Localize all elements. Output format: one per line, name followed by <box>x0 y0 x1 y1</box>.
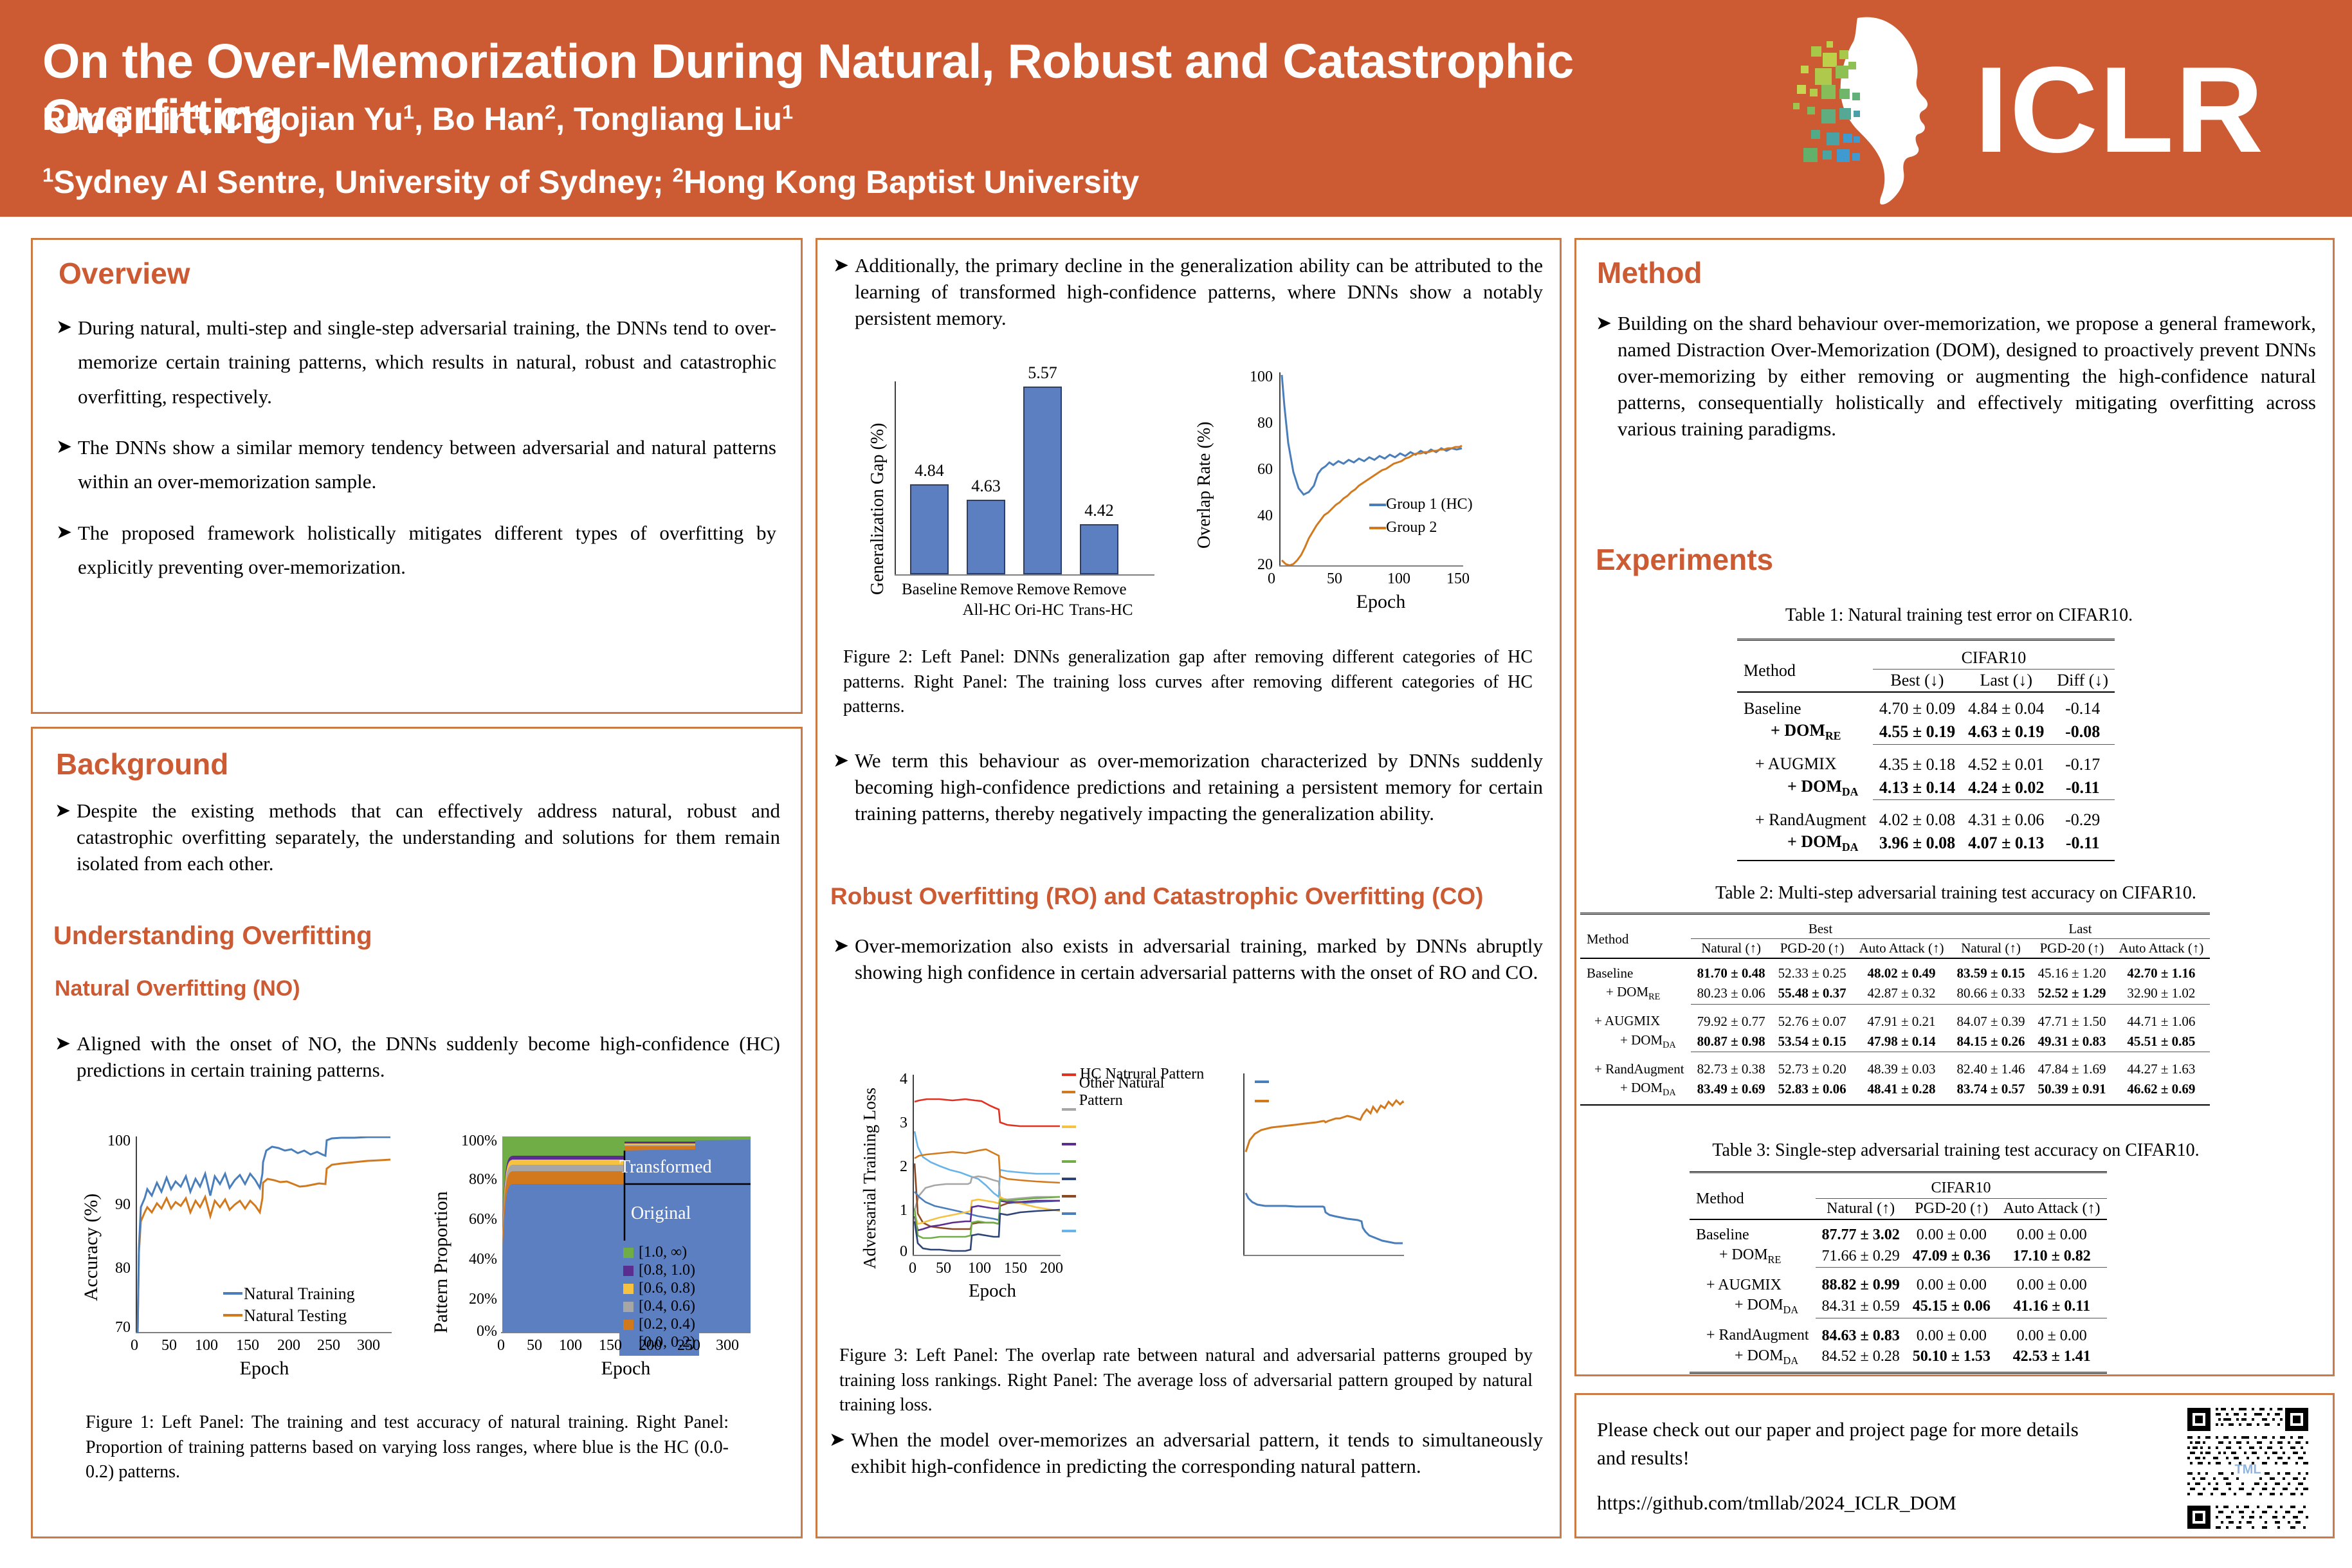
fig1-right-xlabel: Epoch <box>542 1358 709 1380</box>
fig1-left-plot <box>136 1136 392 1333</box>
overview-panel: Overview ➤ During natural, multi-step an… <box>31 238 803 714</box>
fig1-right-ytick-100: 100% <box>435 1133 497 1150</box>
legend-line-icon <box>1255 1100 1269 1102</box>
fig1-right-xtick-300: 300 <box>716 1337 739 1354</box>
fig1-right-ytick-20: 20% <box>435 1291 497 1308</box>
fig2-left-bar-3 <box>1023 387 1062 574</box>
fig1-left-xtick-200: 200 <box>277 1337 300 1354</box>
legend-item: [0.4, 0.6) <box>623 1298 695 1315</box>
figure2-caption: Figure 2: Left Panel: DNNs generalizatio… <box>843 645 1533 720</box>
fig3-right-legend <box>1255 1072 1273 1111</box>
arrow-bullet-icon: ➤ <box>56 311 78 414</box>
table2-grid: Method Best Last Natural (↑) PGD-20 (↑) … <box>1580 913 2210 1106</box>
fig2-left-cat-3-line2: Ori-HC <box>1007 601 1072 619</box>
legend-item <box>1062 1153 1205 1170</box>
arrow-bullet-icon: ➤ <box>55 1031 77 1084</box>
fig1-right-xtick-100: 100 <box>559 1337 582 1354</box>
overview-bullet-2: ➤ The DNNs show a similar memory tendenc… <box>56 430 776 499</box>
table-row: + RandAugment 82.73 ± 0.38 52.73 ± 0.20 … <box>1580 1052 2210 1079</box>
table-header-row: Method CIFAR10 <box>1690 1172 2107 1199</box>
iclr-wordmark: ICLR <box>1974 40 2265 180</box>
legend-item: [1.0, ∞) <box>623 1244 695 1261</box>
fig2-left-yaxis <box>895 381 896 574</box>
legend-item <box>1062 1170 1205 1187</box>
figure3-caption: Figure 3: Left Panel: The overlap rate b… <box>839 1344 1533 1418</box>
arrow-bullet-icon: ➤ <box>833 253 855 332</box>
fig1-left-xtick-50: 50 <box>161 1337 177 1354</box>
fig1-right-xtick-250: 250 <box>677 1337 700 1354</box>
fig1-right-ytick-40: 40% <box>435 1251 497 1268</box>
legend-swatch-icon <box>623 1302 634 1312</box>
figure3-left-chart: Adversarial Training Loss 4 3 2 1 0 <box>857 1057 1205 1327</box>
fig2-right-ytick-003: 40 <box>1205 507 1273 525</box>
fig3-left-ytick-20: 0 <box>871 1243 907 1261</box>
legend-item: [0.8, 1.0) <box>623 1262 695 1279</box>
table-row: + DOMDA 84.31 ± 0.59 45.15 ± 0.06 41.16 … <box>1690 1295 2107 1318</box>
poster-header: On the Over-Memorization During Natural,… <box>0 0 2352 217</box>
fig1-left-xtick-0: 0 <box>131 1337 138 1354</box>
legend-line-icon <box>1062 1108 1076 1111</box>
row-method: + AUGMIX <box>1690 1268 1816 1296</box>
table1-caption: Table 1: Natural training test error on … <box>1654 605 2265 626</box>
row-method: + DOMDA <box>1690 1346 1816 1373</box>
legend-swatch-icon <box>623 1248 634 1258</box>
method-bullet-1: ➤ Building on the shard behaviour over-m… <box>1596 311 2316 442</box>
fig2-right-legend-label-1: Group 1 (HC) <box>1386 496 1473 513</box>
row-method: + DOMRE <box>1690 1245 1816 1268</box>
legend-item <box>1255 1091 1273 1111</box>
legend-item: [0.6, 0.8) <box>623 1280 695 1297</box>
table-row: + AUGMIX 79.92 ± 0.77 52.76 ± 0.07 47.91… <box>1580 1004 2210 1031</box>
fig3-left-plot <box>914 1075 1061 1255</box>
table1-grid: Method CIFAR10 Best (↓) Last (↓) Diff (↓… <box>1737 639 2115 861</box>
head-silhouette-icon <box>1782 13 1974 206</box>
fig1-left-xtick-150: 150 <box>236 1337 259 1354</box>
fig2-right-xaxis <box>1279 565 1463 567</box>
table-row: + AUGMIX 4.35 ± 0.18 4.52 ± 0.01 -0.17 <box>1737 744 2115 776</box>
natural-overfitting-subheading: Natural Overfitting (NO) <box>55 976 300 1001</box>
fig2-right-legend-swatch-2 <box>1369 527 1386 529</box>
fig3-left-ytick-80: 3 <box>871 1115 907 1132</box>
row-method: + DOMDA <box>1690 1295 1816 1318</box>
row-method: + RandAugment <box>1737 800 1873 832</box>
table-row: + AUGMIX 88.82 ± 0.99 0.00 ± 0.00 0.00 ±… <box>1690 1268 2107 1296</box>
fig1-right-annotation-transformed: Transformed <box>619 1157 712 1178</box>
row-method: + DOMDA <box>1580 1031 1691 1052</box>
fig3-left-xaxis <box>913 1255 1061 1256</box>
fig2-right-plot <box>1281 372 1463 565</box>
background-understanding-panel: Background ➤ Despite the existing method… <box>31 727 803 1538</box>
table-row: Baseline 4.70 ± 0.09 4.84 ± 0.04 -0.14 <box>1737 692 2115 720</box>
figure1-caption: Figure 1: Left Panel: The training and t… <box>86 1410 729 1485</box>
row-method: + AUGMIX <box>1580 1004 1691 1031</box>
table3-caption: Table 3: Single-step adversarial trainin… <box>1615 1140 2297 1161</box>
fig1-right-ytick-80: 80% <box>435 1171 497 1189</box>
fig3-left-xtick-0: 0 <box>909 1260 916 1277</box>
middle-bullet-bottom-1: ➤ When the model over-memorizes an adver… <box>829 1427 1543 1480</box>
legend-line-icon <box>1062 1091 1075 1093</box>
method-heading: Method <box>1597 255 1702 290</box>
fig2-left-bar-2 <box>967 500 1005 574</box>
legend-line-icon <box>1062 1212 1076 1215</box>
fig1-left-legend-swatch-2 <box>223 1314 242 1317</box>
fig2-right-ytick-005: 60 <box>1205 461 1273 479</box>
figure1-right-chart: Pattern Proportion 100% 80% 60% 40% 20% … <box>426 1127 774 1378</box>
legend-line-icon <box>1062 1143 1076 1145</box>
svg-text:TML: TML <box>2234 1463 2261 1477</box>
fig1-right-annotation-original: Original <box>631 1203 691 1224</box>
fig2-right-xtick-150: 0 <box>1268 570 1275 588</box>
fig1-left-xlabel: Epoch <box>181 1358 348 1380</box>
figure3-right-chart <box>1201 1057 1529 1327</box>
overview-heading: Overview <box>59 256 190 291</box>
poster-root: On the Over-Memorization During Natural,… <box>0 0 2352 1568</box>
row-method: + RandAugment <box>1580 1052 1691 1079</box>
row-method: Baseline <box>1690 1219 1816 1245</box>
fig2-right-legend-swatch-1 <box>1369 504 1386 506</box>
table3: Method CIFAR10 Natural (↑) PGD-20 (↑) Au… <box>1690 1171 2107 1374</box>
table-row: + DOMRE 4.55 ± 0.19 4.63 ± 0.19 -0.08 <box>1737 720 2115 744</box>
row-method: + DOMDA <box>1737 776 1873 800</box>
overview-bullet-3: ➤ The proposed framework holistically mi… <box>56 516 776 585</box>
legend-swatch-icon <box>623 1338 634 1348</box>
table-header-row: Method Best Last <box>1580 914 2210 939</box>
fig2-left-bar-1 <box>910 484 949 574</box>
legend-item <box>1062 1135 1205 1153</box>
footer-text: Please check out our paper and project p… <box>1597 1416 2111 1472</box>
method-experiments-panel: Method ➤ Building on the shard behaviour… <box>1574 238 2335 1376</box>
fig1-right-ytick-0: 0% <box>435 1323 497 1340</box>
table-row: Baseline 87.77 ± 3.02 0.00 ± 0.00 0.00 ±… <box>1690 1219 2107 1245</box>
fig2-right-xtick-200: 50 <box>1327 570 1342 588</box>
legend-line-icon <box>1062 1230 1076 1232</box>
fig3-left-xlabel: Epoch <box>928 1281 1057 1302</box>
legend-item <box>1062 1118 1205 1135</box>
table-bottom-rule <box>1690 1373 2107 1374</box>
arrow-bullet-icon: ➤ <box>56 430 78 499</box>
fig1-left-xtick-300: 300 <box>357 1337 380 1354</box>
fig3-left-ytick-40: 1 <box>871 1202 907 1219</box>
legend-line-icon <box>1062 1126 1076 1128</box>
table-row: + DOMDA 84.52 ± 0.28 50.10 ± 1.53 42.53 … <box>1690 1346 2107 1373</box>
table-row: + DOMRE 80.23 ± 0.06 55.48 ± 0.37 42.87 … <box>1580 983 2210 1004</box>
table1: Method CIFAR10 Best (↓) Last (↓) Diff (↓… <box>1737 639 2115 861</box>
legend-item <box>1255 1072 1273 1091</box>
middle-column-panel: ➤ Additionally, the primary decline in t… <box>816 238 1562 1538</box>
table-row: + RandAugment 84.63 ± 0.83 0.00 ± 0.00 0… <box>1690 1318 2107 1346</box>
table3-grid: Method CIFAR10 Natural (↑) PGD-20 (↑) Au… <box>1690 1171 2107 1374</box>
author-list: Runqi Lin1, Chaojian Yu1, Bo Han2, Tongl… <box>42 100 1715 138</box>
fig2-left-ylabel: Generalization Gap (%) <box>868 423 888 595</box>
arrow-bullet-icon: ➤ <box>56 516 78 585</box>
fig2-left-bar-value-1: 4.84 <box>902 461 956 480</box>
legend-swatch-icon <box>623 1266 634 1276</box>
fig2-left-bar-value-3: 5.57 <box>1016 363 1070 383</box>
row-method: + DOMRE <box>1580 983 1691 1004</box>
background-heading: Background <box>56 747 228 781</box>
ro-co-heading: Robust Overfitting (RO) and Catastrophic… <box>830 883 1483 910</box>
table-row: + DOMDA 4.13 ± 0.14 4.24 ± 0.02 -0.11 <box>1737 776 2115 800</box>
fig2-right-ytick-001: 20 <box>1205 556 1273 574</box>
legend-line-icon <box>1062 1160 1076 1163</box>
row-method: + RandAugment <box>1690 1318 1816 1346</box>
table-bottom-rule <box>1580 1105 2210 1106</box>
figure2-left-chart: Generalization Gap (%) 4.84 4.63 5.57 4.… <box>864 356 1185 626</box>
fig1-left-legend-label-1: Natural Training <box>244 1284 355 1304</box>
experiments-heading: Experiments <box>1596 542 1773 577</box>
legend-item <box>1062 1205 1205 1222</box>
table-row: Baseline 81.70 ± 0.48 52.33 ± 0.25 48.02… <box>1580 958 2210 983</box>
fig1-left-ytick-70: 70 <box>80 1319 131 1336</box>
row-method: + DOMRE <box>1737 720 1873 744</box>
row-method: + DOMDA <box>1737 831 1873 860</box>
table-header-row: Method CIFAR10 <box>1737 640 2115 670</box>
row-method: Baseline <box>1737 692 1873 720</box>
row-method: + AUGMIX <box>1737 744 1873 776</box>
legend-swatch-icon <box>623 1320 634 1330</box>
fig2-right-xlabel: Epoch <box>1317 591 1445 613</box>
fig3-left-xtick-50: 50 <box>936 1260 951 1277</box>
middle-bullet-roco-1: ➤ Over-memorization also exists in adver… <box>833 933 1543 986</box>
fig2-left-cat-4-line2: Trans-HC <box>1063 601 1139 619</box>
legend-line-icon <box>1062 1195 1076 1198</box>
project-url-link[interactable]: https://github.com/tmllab/2024_ICLR_DOM <box>1597 1491 2150 1515</box>
fig1-right-xtick-150: 150 <box>599 1337 622 1354</box>
fig3-left-ytick-60: 2 <box>871 1158 907 1176</box>
iclr-logo: ICLR <box>1782 13 2335 206</box>
fig2-left-bar-4 <box>1080 524 1118 574</box>
fig2-right-ytick-007: 80 <box>1205 415 1273 432</box>
fig3-left-ytick-100: 4 <box>871 1071 907 1088</box>
arrow-bullet-icon: ➤ <box>833 748 855 827</box>
arrow-bullet-icon: ➤ <box>833 933 855 986</box>
legend-item <box>1062 1222 1205 1239</box>
fig2-right-xtick-300: 150 <box>1446 570 1470 588</box>
figure1-left-chart: Accuracy (%) 100 90 80 70 Natural Traini… <box>71 1127 406 1378</box>
fig2-right-ylabel: Overlap Rate (%) <box>1194 422 1215 549</box>
fig1-left-ytick-90: 90 <box>80 1196 131 1214</box>
fig1-left-ytick-100: 100 <box>80 1133 131 1150</box>
fig2-left-cat-4-line1: Remove <box>1066 581 1134 599</box>
table2: Method Best Last Natural (↑) PGD-20 (↑) … <box>1580 913 2210 1106</box>
row-method: + DOMDA <box>1580 1079 1691 1104</box>
fig3-left-xtick-150: 150 <box>1004 1260 1027 1277</box>
affiliation-list: 1Sydney AI Sentre, University of Sydney;… <box>42 163 1715 201</box>
fig2-right-xtick-250: 100 <box>1387 570 1410 588</box>
fig1-right-xtick-0: 0 <box>497 1337 505 1354</box>
qr-code[interactable]: TML <box>2185 1405 2311 1531</box>
fig1-left-legend-swatch-1 <box>223 1292 242 1295</box>
fig1-left-xtick-100: 100 <box>195 1337 218 1354</box>
arrow-bullet-icon: ➤ <box>1596 311 1618 442</box>
footer-qr-panel: Please check out our paper and project p… <box>1574 1393 2335 1538</box>
legend-item <box>1062 1187 1205 1205</box>
fig1-left-xtick-250: 250 <box>317 1337 340 1354</box>
fig2-left-bar-value-2: 4.63 <box>959 477 1013 496</box>
middle-bullet-mid-1: ➤ We term this behaviour as over-memoriz… <box>833 748 1543 827</box>
legend-line-icon <box>1255 1080 1269 1083</box>
background-bullet-1: ➤ Despite the existing methods that can … <box>55 798 780 877</box>
legend-line-icon <box>1062 1073 1076 1076</box>
fig2-right-legend-label-2: Group 2 <box>1386 519 1437 536</box>
table2-caption: Table 2: Multi-step adversarial training… <box>1615 883 2297 904</box>
fig3-left-legend: HC Natrural Pattern Other Natural Patter… <box>1062 1066 1205 1239</box>
fig3-right-xaxis <box>1243 1255 1404 1256</box>
fig2-right-ytick-009: 100 <box>1205 369 1273 386</box>
table-bottom-rule <box>1737 861 2115 861</box>
arrow-bullet-icon: ➤ <box>55 798 77 877</box>
overview-bullet-1: ➤ During natural, multi-step and single-… <box>56 311 776 414</box>
table-row: + RandAugment 4.02 ± 0.08 4.31 ± 0.06 -0… <box>1737 800 2115 832</box>
legend-swatch-icon <box>623 1284 634 1294</box>
fig2-left-xaxis <box>895 574 1154 576</box>
fig1-right-xtick-200: 200 <box>639 1337 662 1354</box>
natural-overfitting-bullet-1: ➤ Aligned with the onset of NO, the DNNs… <box>55 1031 780 1084</box>
fig1-right-xtick-50: 50 <box>527 1337 542 1354</box>
legend-line-icon <box>1062 1178 1076 1180</box>
table-row: + DOMDA 80.87 ± 0.98 53.54 ± 0.15 47.98 … <box>1580 1031 2210 1052</box>
arrow-bullet-icon: ➤ <box>829 1427 851 1480</box>
fig1-right-ytick-60: 60% <box>435 1211 497 1228</box>
row-method: Baseline <box>1580 958 1691 983</box>
fig2-left-bar-value-4: 4.42 <box>1072 501 1126 520</box>
table-row: + DOMDA 3.96 ± 0.08 4.07 ± 0.13 -0.11 <box>1737 831 2115 860</box>
understanding-overfitting-heading: Understanding Overfitting <box>53 922 372 951</box>
table-row: + DOMRE 71.66 ± 0.29 47.09 ± 0.36 17.10 … <box>1690 1245 2107 1268</box>
middle-bullet-top-1: ➤ Additionally, the primary decline in t… <box>833 253 1543 332</box>
figure2-right-chart: Overlap Rate (%) 100 80 60 40 20 Group 1… <box>1190 356 1512 626</box>
legend-item: Other Natural Pattern <box>1062 1083 1205 1100</box>
fig3-left-xtick-200: 200 <box>1040 1260 1063 1277</box>
table-row: + DOMDA 83.49 ± 0.69 52.83 ± 0.06 48.41 … <box>1580 1079 2210 1104</box>
legend-item: [0.2, 0.4) <box>623 1316 695 1333</box>
qr-code-icon[interactable]: TML <box>2185 1405 2311 1531</box>
fig1-left-legend-label-2: Natural Testing <box>244 1306 347 1326</box>
fig3-left-xtick-100: 100 <box>968 1260 991 1277</box>
fig1-left-ytick-80: 80 <box>80 1260 131 1277</box>
